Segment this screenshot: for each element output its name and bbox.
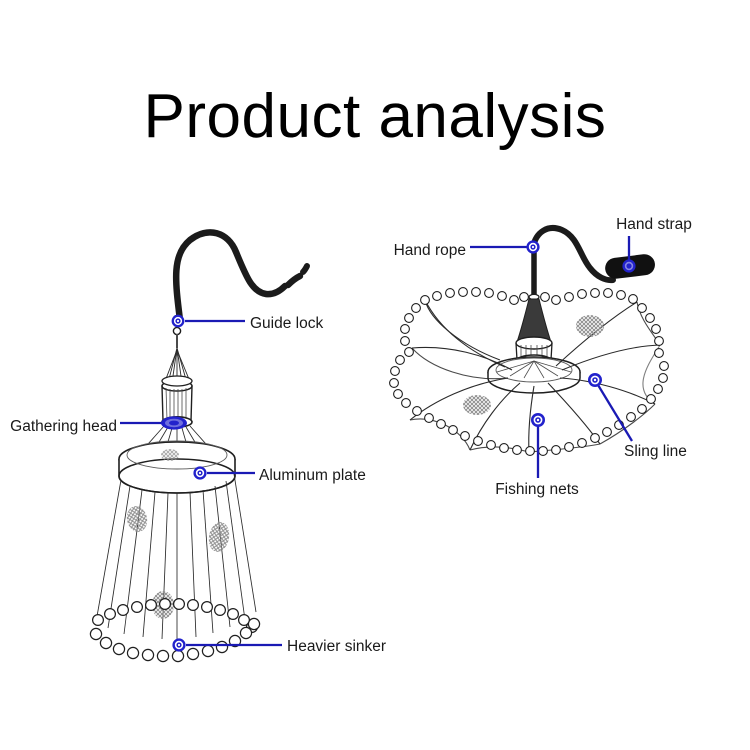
leader-sling-line (595, 380, 632, 441)
left-aluminum-plate (119, 441, 235, 493)
callout-label-hand-strap: Hand strap (616, 217, 692, 233)
marker-hand-strap (622, 259, 635, 272)
product-analysis-page: Product analysis (0, 0, 750, 750)
marker-guide-lock (172, 315, 185, 328)
callout-label-guide-lock: Guide lock (250, 316, 323, 332)
callout-label-sling-line: Sling line (624, 444, 687, 460)
marker-hand-rope (526, 240, 539, 253)
marker-heavier-sinker (172, 638, 185, 651)
callout-label-fishing-nets: Fishing nets (495, 482, 579, 498)
marker-sling-line (588, 373, 602, 387)
callout-label-hand-rope: Hand rope (394, 243, 466, 259)
right-hand-rope (533, 228, 613, 296)
callout-label-aluminum-plate: Aluminum plate (259, 468, 366, 484)
marker-fishing-nets (531, 413, 545, 427)
callout-label-heavier-sinker: Heavier sinker (287, 639, 386, 655)
left-heavier-sinker-chain (90, 599, 259, 662)
left-hand-rope (176, 232, 307, 320)
marker-gathering-head (161, 416, 187, 429)
left-diagram-group (90, 232, 307, 661)
callout-label-gathering-head: Gathering head (10, 419, 117, 435)
marker-aluminum-plate (193, 466, 206, 479)
